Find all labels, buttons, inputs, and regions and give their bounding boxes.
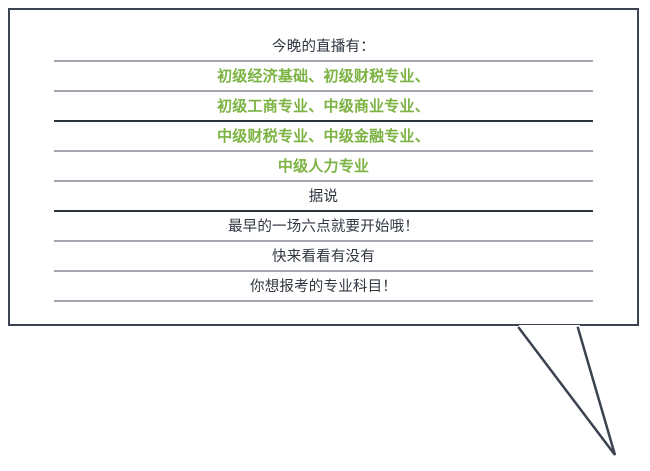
screenshot-canvas: 今晚的直播有： 初级经济基础、初级财税专业、 初级工商专业、中级商业专业、 中级… — [0, 0, 650, 471]
list-item: 初级经济基础、初级财税专业、 — [10, 62, 637, 92]
list-item: 据说 — [10, 182, 637, 212]
row-label: 初级工商专业、中级商业专业、 — [217, 92, 430, 122]
list-item: 你想报考的专业科目！ — [10, 272, 637, 302]
row-label: 快来看看有没有 — [272, 242, 375, 272]
row-label: 据说 — [309, 182, 338, 212]
row-separator — [54, 300, 593, 302]
row-label: 中级人力专业 — [278, 152, 369, 182]
row-label: 今晚的直播有： — [272, 32, 375, 62]
row-label: 中级财税专业、中级金融专业、 — [217, 122, 430, 152]
list-item: 初级工商专业、中级商业专业、 — [10, 92, 637, 122]
row-label: 最早的一场六点就要开始哦！ — [228, 212, 419, 242]
list-item: 中级人力专业 — [10, 152, 637, 182]
row-label: 你想报考的专业科目！ — [250, 272, 397, 302]
list-item: 快来看看有没有 — [10, 242, 637, 272]
list-item: 中级财税专业、中级金融专业、 — [10, 122, 637, 152]
bubble-row-list: 今晚的直播有： 初级经济基础、初级财税专业、 初级工商专业、中级商业专业、 中级… — [10, 10, 637, 302]
row-label: 初级经济基础、初级财税专业、 — [217, 62, 430, 92]
speech-bubble: 今晚的直播有： 初级经济基础、初级财税专业、 初级工商专业、中级商业专业、 中级… — [8, 8, 639, 326]
list-item: 最早的一场六点就要开始哦！ — [10, 212, 637, 242]
list-item: 今晚的直播有： — [10, 32, 637, 62]
